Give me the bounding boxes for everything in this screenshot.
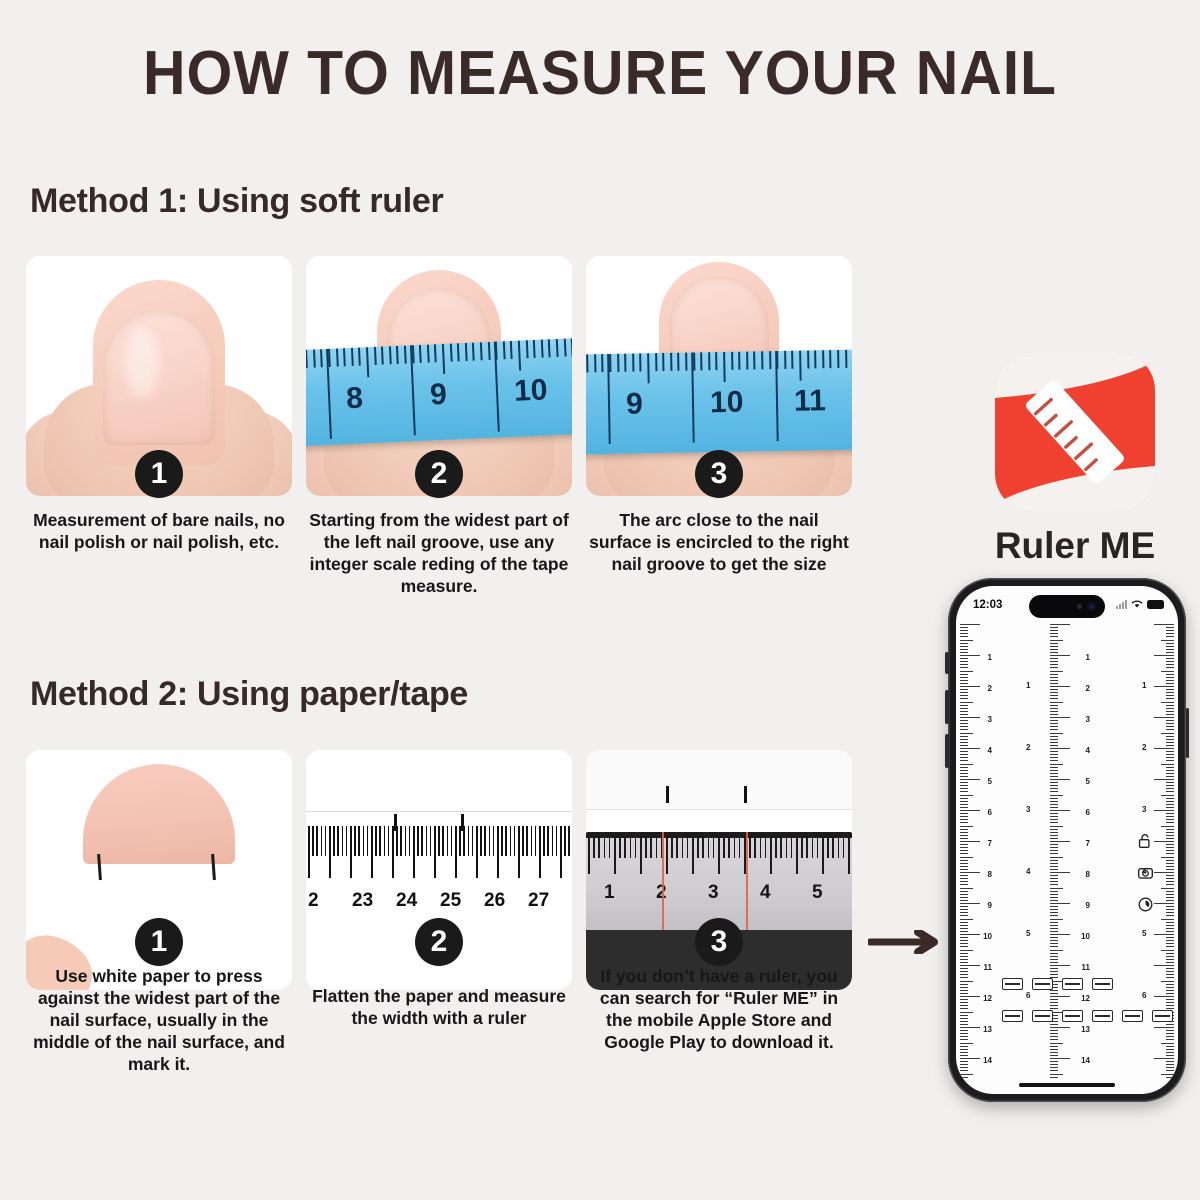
scale-number: 6 (1142, 991, 1146, 1000)
volume-down-button[interactable] (945, 734, 949, 768)
ruler-number: 3 (708, 882, 719, 904)
scale-number: 2 (1142, 743, 1146, 752)
measure-chip[interactable] (1152, 1010, 1173, 1022)
scale-number: 3 (1086, 715, 1090, 724)
timer-icon[interactable] (1137, 896, 1154, 913)
ruler-number: 23 (352, 890, 373, 912)
ruler-number: 26 (484, 890, 505, 912)
red-guide-left (662, 832, 664, 944)
tape-number: 11 (794, 384, 826, 419)
measure-chip[interactable] (1092, 1010, 1113, 1022)
method-1-step-3-caption: The arc close to the nail surface is enc… (586, 510, 852, 576)
pencil-mark-right (744, 786, 747, 803)
method-1-heading: Method 1: Using soft ruler (30, 182, 443, 221)
scale-number-secondary: 4 (1026, 867, 1030, 876)
scale-number: 2 (1086, 684, 1090, 693)
scale-number-secondary: 5 (1026, 929, 1030, 938)
measure-chip-row-bottom[interactable] (1002, 1010, 1173, 1022)
status-bar-indicators (1116, 599, 1164, 609)
method-2-step-1-caption: Use white paper to press against the wid… (26, 966, 292, 1075)
scale-number-secondary: 3 (1026, 805, 1030, 814)
scale-number: 6 (988, 808, 992, 817)
dynamic-island (1029, 595, 1105, 618)
method-1-step-2-caption: Starting from the widest part of the lef… (306, 510, 572, 598)
scale-number: 10 (1081, 932, 1090, 941)
face-id-sensor-icon (1077, 604, 1082, 609)
scale-number: 13 (983, 1025, 992, 1034)
scale-number: 5 (1142, 929, 1146, 938)
scale-number: 1 (1142, 681, 1146, 690)
scale-number: 4 (988, 746, 992, 755)
method-2-step-2-caption: Flatten the paper and measure the width … (306, 986, 572, 1030)
nail-shine (125, 328, 159, 398)
tape-number: 9 (429, 378, 447, 413)
wifi-icon (1131, 599, 1143, 609)
phone-screen[interactable]: 12:03 1234567891011121314 12345678910111… (956, 586, 1178, 1094)
measure-chip[interactable] (1062, 978, 1083, 990)
scale-number: 10 (983, 932, 992, 941)
scale-number: 3 (988, 715, 992, 724)
step-badge: 3 (695, 450, 743, 498)
red-guide-right (746, 832, 748, 944)
blue-measuring-tape: 91011 (586, 349, 852, 454)
scale-number: 12 (983, 994, 992, 1003)
measure-chip[interactable] (1032, 1010, 1053, 1022)
front-camera-icon (1087, 602, 1096, 611)
ruler-scale-left: 1234567891011121314 (960, 624, 994, 1080)
page-title: HOW TO MEASURE YOUR NAIL (30, 38, 1170, 109)
scale-number: 13 (1081, 1025, 1090, 1034)
arrow-right-icon (868, 930, 948, 954)
paper-edge (306, 750, 572, 812)
scale-number: 7 (988, 839, 992, 848)
power-button[interactable] (1186, 708, 1190, 758)
metal-ruler: 12345 (586, 838, 852, 930)
volume-up-button[interactable] (945, 690, 949, 724)
scale-number: 6 (1086, 808, 1090, 817)
scale-number: 5 (1086, 777, 1090, 786)
step-badge: 1 (135, 918, 183, 966)
unlock-icon[interactable] (1137, 832, 1154, 849)
measure-chip[interactable] (1062, 1010, 1083, 1022)
tape-number: 9 (626, 387, 643, 421)
scale-number: 11 (984, 963, 992, 972)
scale-number-secondary: 1 (1026, 681, 1030, 690)
mute-switch[interactable] (945, 652, 949, 674)
measure-chip[interactable] (1002, 978, 1023, 990)
ruler-number: 1 (604, 882, 615, 904)
scale-number: 1 (1086, 653, 1090, 662)
ruler-number: 2 (308, 890, 319, 912)
status-bar-time: 12:03 (973, 599, 1002, 611)
step-badge: 2 (415, 450, 463, 498)
step-badge: 2 (415, 918, 463, 966)
finger (93, 280, 225, 465)
scale-number: 5 (988, 777, 992, 786)
ruler-number: 24 (396, 890, 417, 912)
measure-chip[interactable] (1092, 978, 1113, 990)
ruler-number: 25 (440, 890, 461, 912)
ruler-icon (995, 352, 1155, 512)
step-badge: 1 (135, 450, 183, 498)
scale-number: 7 (1086, 839, 1090, 848)
battery-icon (1147, 600, 1164, 609)
tape-numbers: 8910 (306, 337, 572, 446)
scale-number: 2 (988, 684, 992, 693)
camera-icon[interactable] (1137, 864, 1154, 881)
home-indicator[interactable] (1019, 1083, 1115, 1087)
tape-number: 10 (710, 386, 744, 421)
tape-numbers: 91011 (586, 349, 852, 454)
measure-chip[interactable] (1032, 978, 1053, 990)
measure-chip[interactable] (1122, 1010, 1143, 1022)
ruler-app-icon[interactable] (995, 352, 1155, 512)
method-2-heading: Method 2: Using paper/tape (30, 675, 468, 714)
step-badge: 3 (695, 918, 743, 966)
pencil-mark-left (666, 786, 669, 803)
scale-number-secondary: 2 (1026, 743, 1030, 752)
method-1-step-1-caption: Measurement of bare nails, no nail polis… (26, 510, 292, 554)
scale-number: 14 (983, 1056, 992, 1065)
scale-number: 8 (1086, 870, 1090, 879)
nail-arc-imprint (83, 764, 235, 864)
paper-above-ruler (586, 750, 852, 810)
phone-tool-icons[interactable] (1137, 832, 1154, 913)
scale-number: 3 (1142, 805, 1146, 814)
app-name-label: Ruler ME (930, 525, 1200, 567)
measure-chip-row-top[interactable] (1002, 978, 1113, 990)
scale-number: 4 (1086, 746, 1090, 755)
scale-number: 11 (1082, 963, 1090, 972)
measure-chip[interactable] (1002, 1010, 1023, 1022)
tape-number: 10 (513, 373, 548, 408)
ruler-number: 5 (812, 882, 823, 904)
scale-number: 12 (1081, 994, 1090, 1003)
scale-number-secondary: 6 (1026, 991, 1030, 1000)
scale-number: 1 (988, 653, 992, 662)
ruler-number: 27 (528, 890, 549, 912)
cellular-signal-icon (1116, 600, 1127, 609)
scale-number: 8 (988, 870, 992, 879)
phone-mockup: 12:03 1234567891011121314 12345678910111… (948, 578, 1186, 1102)
tape-number: 8 (345, 382, 363, 417)
scale-number: 9 (988, 901, 992, 910)
nail (103, 310, 215, 445)
scale-number: 14 (1081, 1056, 1090, 1065)
scale-number: 9 (1086, 901, 1090, 910)
blue-measuring-tape: 8910 (306, 337, 572, 446)
method-2-step-3-caption: If you don’t have a ruler, you can searc… (586, 966, 852, 1054)
ruler-number: 4 (760, 882, 771, 904)
